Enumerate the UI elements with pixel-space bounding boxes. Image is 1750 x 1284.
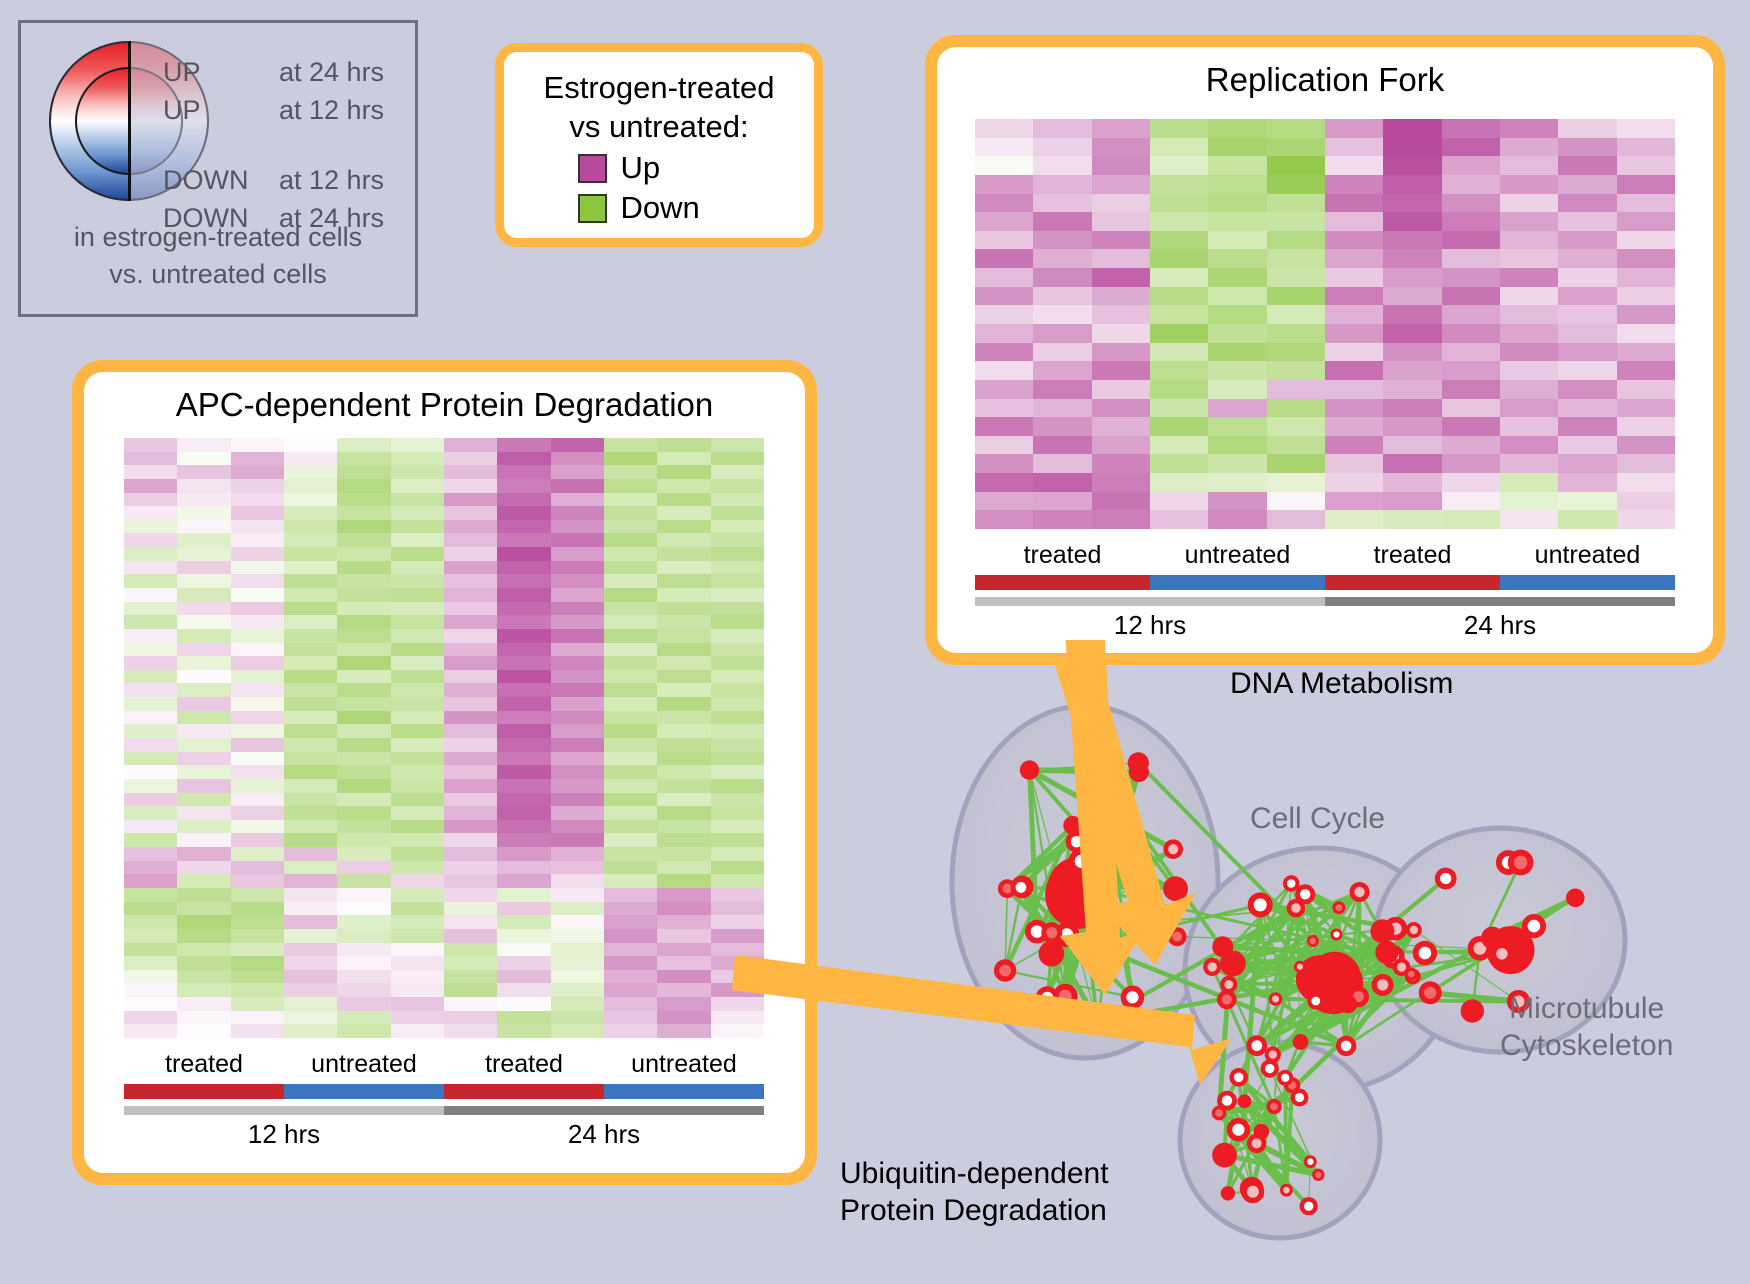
- heatmap-cell: [551, 452, 604, 466]
- heatmap-cell: [391, 670, 444, 684]
- heatmap-cell: [337, 438, 390, 452]
- heatmap-cell: [391, 561, 444, 575]
- heatmap-cell: [551, 738, 604, 752]
- heatmap-cell: [284, 997, 337, 1011]
- heatmap-cell: [231, 752, 284, 766]
- heatmap-cell: [1500, 138, 1558, 157]
- heatmap-cell: [497, 493, 550, 507]
- heatmap-cell: [337, 902, 390, 916]
- heatmap-cell: [657, 452, 710, 466]
- network-node-core: [1397, 963, 1406, 972]
- heatmap-cell: [284, 915, 337, 929]
- heatmap-cell: [444, 656, 497, 670]
- heatmap-cell: [975, 119, 1033, 138]
- heatmap-cell: [657, 997, 710, 1011]
- heatmap-cell: [391, 847, 444, 861]
- heatmap-cell: [604, 833, 657, 847]
- network-node-core: [1222, 1095, 1232, 1105]
- heatmap-cell: [391, 724, 444, 738]
- heatmap-cell: [177, 438, 230, 452]
- heatmap-cell: [1092, 473, 1150, 492]
- heatmap-cell: [391, 765, 444, 779]
- heatmap-cell: [284, 1024, 337, 1038]
- heatmap-cell: [657, 793, 710, 807]
- heatmap-cell: [604, 520, 657, 534]
- heatmap-cell: [284, 1011, 337, 1025]
- network-node-core: [1311, 997, 1320, 1006]
- heatmap-cell: [1325, 492, 1383, 511]
- network-node-core: [1336, 904, 1343, 911]
- heatmap-cell: [1150, 454, 1208, 473]
- heatmap-cell: [551, 820, 604, 834]
- heatmap-cell: [284, 929, 337, 943]
- heatmap-cell: [124, 506, 177, 520]
- heatmap-cell: [284, 479, 337, 493]
- heatmap-cell: [231, 997, 284, 1011]
- heatmap-cell: [391, 506, 444, 520]
- heatmap-cell: [391, 943, 444, 957]
- heatmap-cell: [657, 752, 710, 766]
- heatmap-cell: [497, 643, 550, 657]
- heatmap-cell: [604, 806, 657, 820]
- heatmap-cell: [124, 588, 177, 602]
- heatmap-cell: [284, 943, 337, 957]
- network-node-core: [1025, 765, 1035, 775]
- network-node-core: [1224, 980, 1233, 989]
- scale-caption-line2: vs. untreated cells: [21, 256, 415, 293]
- heatmap-cell: [711, 479, 764, 493]
- key-title-line1: Estrogen-treated: [504, 68, 814, 107]
- heatmap-cell: [604, 902, 657, 916]
- scale-time-label: at 12 hrs: [279, 95, 384, 126]
- heatmap-cell: [391, 643, 444, 657]
- heatmap-cell: [1617, 156, 1675, 175]
- group-label: untreated: [1500, 541, 1675, 570]
- heatmap-cell: [1092, 454, 1150, 473]
- timepoint-bar-segment: [444, 1106, 764, 1115]
- network-node-core: [1068, 821, 1078, 831]
- heatmap-cell: [177, 970, 230, 984]
- heatmap-cell: [337, 738, 390, 752]
- heatmap-cell: [124, 1024, 177, 1038]
- network-node-core: [1145, 902, 1157, 914]
- heatmap-cell: [975, 454, 1033, 473]
- network-node-core: [1571, 893, 1581, 903]
- network-node-core: [1304, 1202, 1313, 1211]
- heatmap-cell: [284, 656, 337, 670]
- heatmap-cell: [604, 533, 657, 547]
- heatmap-cell: [284, 520, 337, 534]
- heatmap-cell: [1150, 417, 1208, 436]
- heatmap-cell: [1267, 492, 1325, 511]
- heatmap-cell: [1558, 119, 1616, 138]
- heatmap-cell: [444, 752, 497, 766]
- network-node-core: [1168, 844, 1178, 854]
- panel-title-apc: APC-dependent Protein Degradation: [84, 386, 805, 424]
- heatmap-cell: [1092, 119, 1150, 138]
- heatmap-cell: [444, 983, 497, 997]
- heatmap-cell: [391, 902, 444, 916]
- heatmap-cell: [1617, 343, 1675, 362]
- heatmap-cell: [711, 506, 764, 520]
- heatmap-cell: [604, 643, 657, 657]
- heatmap-cell: [231, 533, 284, 547]
- heatmap-cell: [1208, 436, 1266, 455]
- heatmap-cell: [1617, 324, 1675, 343]
- network-node-core: [1270, 1103, 1278, 1111]
- heatmap-cell: [711, 533, 764, 547]
- heatmap-cell: [1617, 380, 1675, 399]
- heatmap-cell: [497, 765, 550, 779]
- heatmap-cell: [337, 724, 390, 738]
- heatmap-cell: [497, 943, 550, 957]
- ring-divider-line: [128, 41, 131, 201]
- network-node-core: [1224, 1190, 1232, 1198]
- heatmap-cell: [1617, 492, 1675, 511]
- heatmap-cell: [1150, 231, 1208, 250]
- heatmap-cell: [444, 452, 497, 466]
- heatmap-cell: [1325, 473, 1383, 492]
- heatmap-cell: [711, 711, 764, 725]
- heatmap-cell: [1442, 287, 1500, 306]
- heatmap-cell: [177, 833, 230, 847]
- heatmap-cell: [1033, 454, 1091, 473]
- heatmap-cell: [604, 820, 657, 834]
- heatmap-cell: [551, 902, 604, 916]
- heatmap-cell: [551, 520, 604, 534]
- network-node-core: [1234, 1073, 1244, 1083]
- heatmap-cell: [177, 465, 230, 479]
- scale-direction-label: DOWN: [163, 165, 279, 196]
- heatmap-cell: [1617, 231, 1675, 250]
- heatmap-cell: [391, 956, 444, 970]
- heatmap-cell: [231, 520, 284, 534]
- heatmap-cell: [657, 861, 710, 875]
- heatmap-cell: [604, 1011, 657, 1025]
- heatmap-cell: [391, 997, 444, 1011]
- heatmap-cell: [1558, 343, 1616, 362]
- heatmap-cell: [1033, 175, 1091, 194]
- heatmap-cell: [1558, 268, 1616, 287]
- heatmap-cell: [711, 915, 764, 929]
- heatmap-cell: [124, 983, 177, 997]
- heatmap-cell: [124, 902, 177, 916]
- heatmap-cell: [284, 847, 337, 861]
- heatmap-cell: [1442, 399, 1500, 418]
- heatmap-cell: [551, 956, 604, 970]
- heatmap-cell: [604, 602, 657, 616]
- heatmap-cell: [1500, 417, 1558, 436]
- heatmap-cell: [497, 588, 550, 602]
- heatmap-cell: [444, 902, 497, 916]
- heatmap-cell: [975, 492, 1033, 511]
- heatmap-cell: [975, 361, 1033, 380]
- heatmap-cell: [1325, 156, 1383, 175]
- network-node-core: [1222, 994, 1232, 1004]
- heatmap-cell: [1500, 212, 1558, 231]
- heatmap-cell: [231, 820, 284, 834]
- heatmap-cell: [444, 670, 497, 684]
- heatmap-cell: [1150, 510, 1208, 529]
- heatmap-cell: [284, 833, 337, 847]
- heatmap-cell: [124, 929, 177, 943]
- heatmap-cell: [657, 902, 710, 916]
- heatmap-cell: [551, 997, 604, 1011]
- heatmap-cell: [657, 847, 710, 861]
- heatmap-cell: [444, 997, 497, 1011]
- heatmap-cell: [231, 506, 284, 520]
- heatmap-cell: [551, 888, 604, 902]
- heatmap-cell: [1325, 324, 1383, 343]
- heatmap-cell: [1092, 212, 1150, 231]
- heatmap-cell: [391, 588, 444, 602]
- heatmap-cell: [1442, 454, 1500, 473]
- heatmap-cell: [177, 929, 230, 943]
- heatmap-cell: [551, 533, 604, 547]
- heatmap-cell: [711, 452, 764, 466]
- timepoint-bar-segment: [975, 597, 1325, 606]
- heatmap-cell: [444, 602, 497, 616]
- heatmap-cell: [711, 561, 764, 575]
- heatmap-cell: [604, 547, 657, 561]
- network-node-core: [1466, 1005, 1478, 1017]
- heatmap-cell: [1033, 194, 1091, 213]
- heatmap-cell: [1558, 399, 1616, 418]
- heatmap-cell: [1150, 324, 1208, 343]
- heatmap-cell: [444, 697, 497, 711]
- heatmap-cell: [657, 956, 710, 970]
- heatmap-cell: [177, 615, 230, 629]
- panel-apc-degradation: APC-dependent Protein Degradation treate…: [72, 360, 817, 1185]
- heatmap-cell: [391, 793, 444, 807]
- heatmap-cell: [1150, 305, 1208, 324]
- timepoint-label: 12 hrs: [124, 1119, 444, 1150]
- heatmap-cell: [337, 561, 390, 575]
- heatmap-cell: [444, 493, 497, 507]
- heatmap-cell: [124, 997, 177, 1011]
- heatmap-cell: [284, 711, 337, 725]
- heatmap-cell: [1383, 268, 1441, 287]
- heatmap-cell: [711, 520, 764, 534]
- heatmap-cell: [551, 806, 604, 820]
- heatmap-cell: [604, 656, 657, 670]
- network-node-core: [1296, 1038, 1304, 1046]
- heatmap-cell: [177, 765, 230, 779]
- heatmap-cell: [337, 683, 390, 697]
- heatmap-cell: [604, 997, 657, 1011]
- timepoint-label: 24 hrs: [1325, 610, 1675, 641]
- timepoint-bar-segment: [124, 1106, 444, 1115]
- heatmap-cell: [551, 615, 604, 629]
- heatmap-cell: [657, 943, 710, 957]
- network-node-core: [1126, 991, 1138, 1003]
- key-item-down: Down: [504, 190, 814, 226]
- heatmap-cell: [1033, 249, 1091, 268]
- heatmap-cell: [124, 806, 177, 820]
- heatmap-cell: [1033, 156, 1091, 175]
- network-node-core: [1300, 889, 1310, 899]
- heatmap-cell: [231, 438, 284, 452]
- heatmap-cell: [177, 520, 230, 534]
- heatmap-cell: [1442, 249, 1500, 268]
- heatmap-cell: [1383, 380, 1441, 399]
- heatmap-cell: [1150, 212, 1208, 231]
- heatmap-cell: [657, 438, 710, 452]
- heatmap-cell: [1267, 138, 1325, 157]
- heatmap-cell: [337, 765, 390, 779]
- network-node-core: [1343, 1000, 1352, 1009]
- heatmap-cell: [1558, 305, 1616, 324]
- heatmap-cell: [124, 465, 177, 479]
- heatmap-cell: [231, 738, 284, 752]
- heatmap-cell: [1558, 380, 1616, 399]
- heatmap-cell: [657, 1011, 710, 1025]
- heatmap-cell: [604, 711, 657, 725]
- network-node-core: [1031, 925, 1043, 937]
- key-title-line2: vs untreated:: [504, 107, 814, 146]
- heatmap-cell: [124, 833, 177, 847]
- heatmap-cell: [177, 956, 230, 970]
- heatmap-cell: [1500, 156, 1558, 175]
- network-node-core: [1283, 1187, 1290, 1194]
- figure-root: UPat 24 hrs UPat 12 hrs DOWNat 12 hrs DO…: [0, 0, 1750, 1279]
- heatmap-cell: [231, 1011, 284, 1025]
- group-label: treated: [975, 541, 1150, 570]
- heatmap-cell: [711, 983, 764, 997]
- heatmap-cell: [444, 915, 497, 929]
- heatmap-cell: [391, 479, 444, 493]
- heatmap-cell: [1150, 492, 1208, 511]
- heatmap-cell: [177, 779, 230, 793]
- heatmap-cell: [497, 820, 550, 834]
- heatmap-cell: [1033, 399, 1091, 418]
- network-node-core: [1016, 882, 1027, 893]
- heatmap-cell: [177, 533, 230, 547]
- heatmap-cell: [391, 833, 444, 847]
- heatmap-cell: [391, 465, 444, 479]
- heatmap-cell: [391, 574, 444, 588]
- heatmap-cell: [337, 588, 390, 602]
- heatmap-cell: [1325, 138, 1383, 157]
- heatmap-cell: [177, 806, 230, 820]
- heatmap-cell: [177, 711, 230, 725]
- updown-key-box: Estrogen-treated vs untreated: Up Down: [495, 43, 823, 247]
- heatmap-cell: [1150, 380, 1208, 399]
- heatmap-cell: [1208, 380, 1266, 399]
- heatmap-cell: [177, 643, 230, 657]
- heatmap-cell: [1208, 194, 1266, 213]
- heatmap-cell: [604, 943, 657, 957]
- heatmap-cell: [337, 1024, 390, 1038]
- network-node-core: [1247, 1186, 1259, 1198]
- heatmap-cell: [1267, 361, 1325, 380]
- heatmap-cell: [337, 820, 390, 834]
- heatmap-cell: [1033, 510, 1091, 529]
- heatmap-cell: [231, 547, 284, 561]
- heatmap-cell: [1617, 454, 1675, 473]
- heatmap-cell: [1208, 287, 1266, 306]
- heatmap-cell: [444, 1011, 497, 1025]
- heatmap-cell: [975, 194, 1033, 213]
- heatmap-cell: [657, 833, 710, 847]
- heatmap-cell: [604, 970, 657, 984]
- heatmap-cell: [1500, 492, 1558, 511]
- heatmap-cell: [1558, 138, 1616, 157]
- heatmap-cell: [711, 861, 764, 875]
- heatmap-cell: [391, 683, 444, 697]
- heatmap-cell: [124, 643, 177, 657]
- heatmap-cell: [391, 520, 444, 534]
- heatmap-cell: [177, 752, 230, 766]
- heatmap-cell: [1092, 175, 1150, 194]
- heatmap-cell: [177, 452, 230, 466]
- heatmap-cell: [551, 465, 604, 479]
- network-node-core: [1251, 1040, 1262, 1051]
- heatmap-cell: [1383, 454, 1441, 473]
- heatmap-cell: [1558, 324, 1616, 343]
- heatmap-cell: [1558, 436, 1616, 455]
- heatmap-cell: [391, 656, 444, 670]
- heatmap-cell: [284, 752, 337, 766]
- heatmap-cell: [337, 793, 390, 807]
- heatmap-cell: [1150, 249, 1208, 268]
- heatmap-cell: [551, 793, 604, 807]
- heatmap-cell: [657, 656, 710, 670]
- network-node-core: [1232, 1124, 1244, 1136]
- heatmap-cell: [444, 847, 497, 861]
- scale-time-label: at 24 hrs: [279, 57, 384, 88]
- heatmap-cell: [1267, 231, 1325, 250]
- heatmap-cell: [1208, 138, 1266, 157]
- heatmap-cell: [711, 765, 764, 779]
- heatmap-cell: [1033, 436, 1091, 455]
- heatmap-cell: [444, 943, 497, 957]
- up-color-swatch: [578, 154, 607, 183]
- heatmap-cell: [657, 629, 710, 643]
- heatmap-cell: [284, 738, 337, 752]
- heatmap-cell: [551, 970, 604, 984]
- treatment-color-bar: [975, 575, 1675, 590]
- heatmap-cell: [657, 779, 710, 793]
- heatmap-cell: [497, 902, 550, 916]
- heatmap-cell: [1208, 417, 1266, 436]
- scale-time-label: at 12 hrs: [279, 165, 384, 196]
- heatmap-cell: [231, 493, 284, 507]
- heatmap-cell: [391, 779, 444, 793]
- heatmap-cell: [1617, 268, 1675, 287]
- heatmap-cell: [337, 533, 390, 547]
- heatmap-cell: [497, 465, 550, 479]
- heatmap-cell: [1033, 473, 1091, 492]
- group-label: untreated: [1150, 541, 1325, 570]
- heatmap-cell: [231, 561, 284, 575]
- network-node-core: [1226, 957, 1239, 970]
- network-node-core: [1218, 1149, 1231, 1162]
- heatmap-cell: [1092, 380, 1150, 399]
- group-label: treated: [444, 1050, 604, 1079]
- heatmap-cell: [391, 874, 444, 888]
- heatmap-cell: [337, 615, 390, 629]
- heatmap-cell: [124, 656, 177, 670]
- heatmap-cell: [284, 629, 337, 643]
- network-node-core: [1310, 938, 1316, 944]
- heatmap-cell: [497, 602, 550, 616]
- heatmap-cell: [444, 970, 497, 984]
- heatmap-cell: [1617, 249, 1675, 268]
- heatmap-cell: [1092, 343, 1150, 362]
- heatmap-cell: [551, 588, 604, 602]
- heatmap-cell: [124, 752, 177, 766]
